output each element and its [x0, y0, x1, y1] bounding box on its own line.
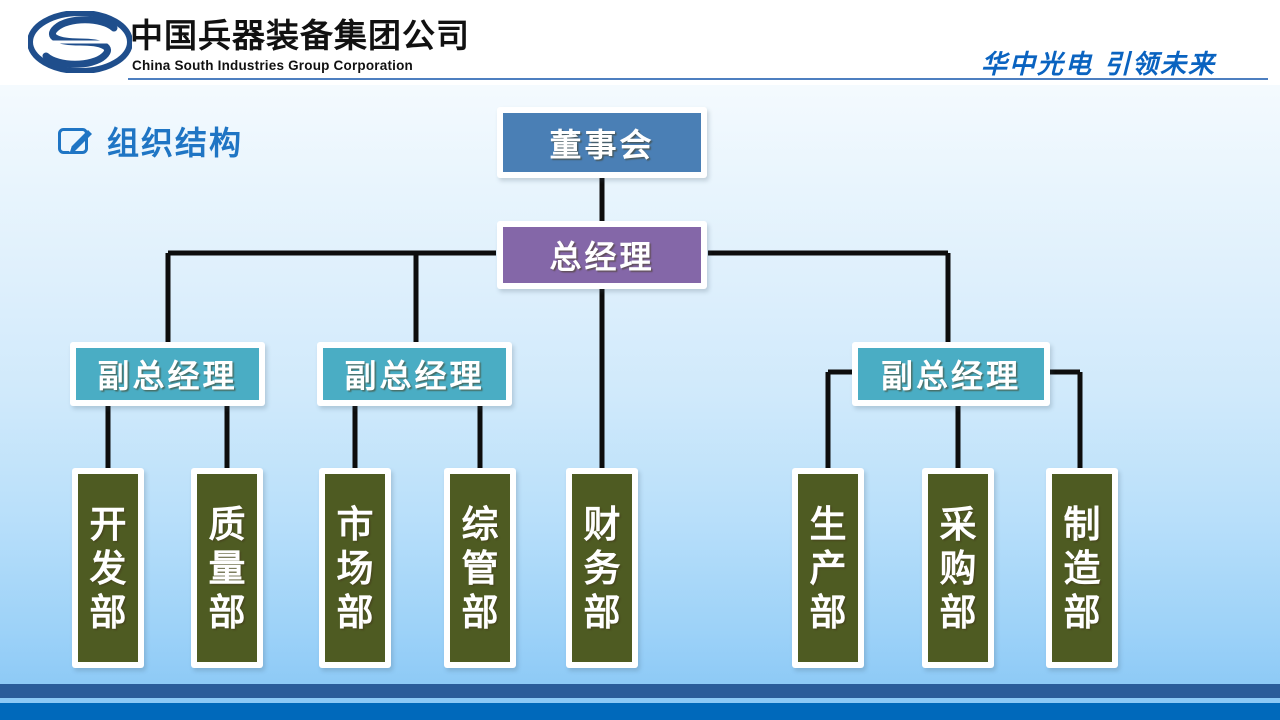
- dept-char: 部: [584, 591, 621, 635]
- org-node-dept-development-label: 开 发 部: [78, 474, 138, 662]
- dept-char: 综: [462, 503, 499, 547]
- dept-char: 部: [90, 591, 127, 635]
- org-node-dept-finance[interactable]: 财 务 部: [566, 468, 638, 668]
- dept-char: 量: [209, 547, 246, 591]
- dept-char: 购: [940, 547, 977, 591]
- org-node-dept-marketing[interactable]: 市 场 部: [319, 468, 391, 668]
- dept-char: 采: [940, 503, 977, 547]
- org-node-dept-development[interactable]: 开 发 部: [72, 468, 144, 668]
- footer-bar-bright: [0, 703, 1280, 720]
- dept-char: 产: [810, 547, 847, 591]
- dept-char: 造: [1064, 547, 1101, 591]
- dept-char: 开: [90, 503, 127, 547]
- org-node-deputy-right[interactable]: 副总经理: [852, 342, 1050, 406]
- org-node-general-manager[interactable]: 总经理: [497, 221, 707, 289]
- org-node-dept-finance-label: 财 务 部: [572, 474, 632, 662]
- dept-char: 财: [584, 503, 621, 547]
- dept-char: 部: [337, 591, 374, 635]
- footer-bar-dark: [0, 684, 1280, 698]
- org-node-board-label: 董事会: [503, 113, 701, 172]
- org-node-dept-marketing-label: 市 场 部: [325, 474, 385, 662]
- org-node-dept-manufacturing-label: 制 造 部: [1052, 474, 1112, 662]
- org-node-board[interactable]: 董事会: [497, 107, 707, 178]
- slide-canvas: 中国兵器装备集团公司 China South Industries Group …: [0, 0, 1280, 720]
- dept-char: 管: [462, 547, 499, 591]
- org-node-deputy-left-label: 副总经理: [76, 348, 259, 400]
- dept-char: 部: [810, 591, 847, 635]
- org-node-dept-administration-label: 综 管 部: [450, 474, 510, 662]
- dept-char: 部: [1064, 591, 1101, 635]
- dept-char: 部: [462, 591, 499, 635]
- org-node-deputy-left[interactable]: 副总经理: [70, 342, 265, 406]
- org-node-deputy-middle-label: 副总经理: [323, 348, 506, 400]
- org-node-dept-manufacturing[interactable]: 制 造 部: [1046, 468, 1118, 668]
- org-node-general-manager-label: 总经理: [503, 227, 701, 283]
- dept-char: 制: [1064, 503, 1101, 547]
- org-node-dept-production[interactable]: 生 产 部: [792, 468, 864, 668]
- dept-char: 市: [337, 503, 374, 547]
- dept-char: 部: [940, 591, 977, 635]
- dept-char: 务: [584, 547, 621, 591]
- dept-char: 场: [337, 547, 374, 591]
- org-node-dept-quality-label: 质 量 部: [197, 474, 257, 662]
- dept-char: 生: [810, 503, 847, 547]
- org-node-dept-production-label: 生 产 部: [798, 474, 858, 662]
- org-node-dept-procurement[interactable]: 采 购 部: [922, 468, 994, 668]
- dept-char: 部: [209, 591, 246, 635]
- org-node-deputy-middle[interactable]: 副总经理: [317, 342, 512, 406]
- org-node-dept-administration[interactable]: 综 管 部: [444, 468, 516, 668]
- dept-char: 质: [209, 503, 246, 547]
- org-node-dept-procurement-label: 采 购 部: [928, 474, 988, 662]
- org-node-dept-quality[interactable]: 质 量 部: [191, 468, 263, 668]
- dept-char: 发: [90, 547, 127, 591]
- org-node-deputy-right-label: 副总经理: [858, 348, 1044, 400]
